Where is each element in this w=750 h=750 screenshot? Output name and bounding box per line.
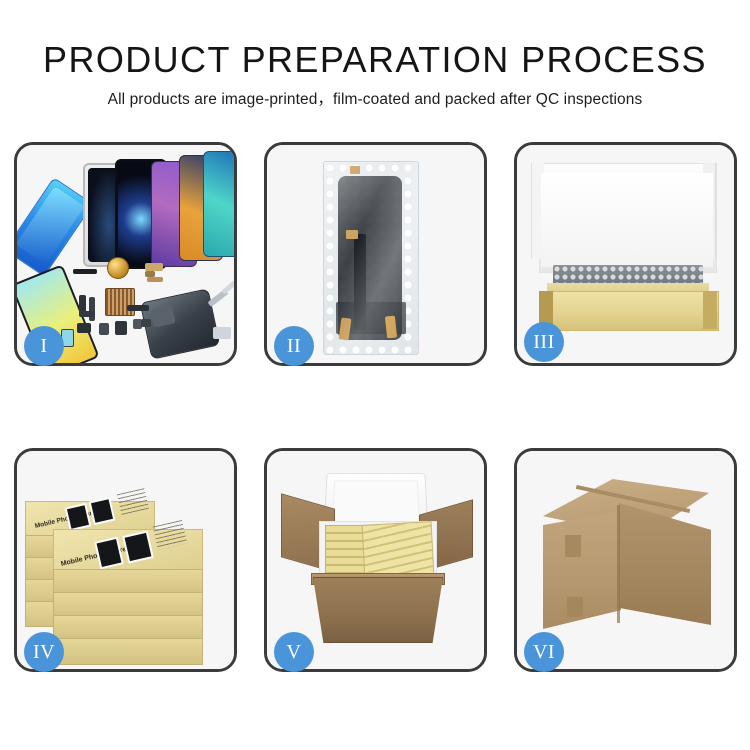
step-badge-2: II [274,326,314,366]
step-badge-4: IV [24,632,64,672]
box-side-face [53,638,203,665]
step-badge-6: VI [524,632,564,672]
box-side-face [53,592,203,617]
box-side-face [53,615,203,640]
part-icon [145,263,163,271]
process-step-grid: I II [14,142,737,672]
carton-body [313,577,443,643]
page-subtitle: All products are image-printed，film-coat… [0,90,750,110]
step-badge-5: V [274,632,314,672]
step-panel-1: I [14,142,237,366]
part-icon [99,323,109,335]
step-panel-6: VI [514,448,737,672]
part-icon [147,277,163,282]
box-side-face [53,569,203,594]
carton-tape-icon [565,535,581,557]
part-icon [77,323,91,333]
step-badge-1: I [24,326,64,366]
part-icon [127,305,149,311]
step-panel-4: Mobile Phone Spare Parts Mobile Phon [14,448,237,672]
stacked-boxes: Mobile Phone Spare Parts Mobile Phon [25,473,231,657]
header: PRODUCT PREPARATION PROCESS All products… [0,38,750,110]
box-front-layers [53,569,201,663]
carton-corner-edge [617,505,620,623]
logic-board-icon [105,288,135,316]
kraft-box-front [539,291,719,331]
teal-phone-icon [203,151,234,257]
white-foam-liner [541,173,713,267]
part-icon [89,297,95,321]
kraft-boxes-inside [362,521,435,579]
carton-right-face [619,503,711,625]
tape-tab-icon [346,230,358,239]
step-panel-3: III [514,142,737,366]
step-panel-2: II [264,142,487,366]
page-title: PRODUCT PREPARATION PROCESS [0,38,750,82]
phone-back-housing-icon [140,288,221,359]
bubble-wrap-bag [323,161,419,355]
speaker-coil-icon [107,257,129,279]
flex-cable-icon [354,234,366,330]
part-icon [141,319,151,327]
tape-tab-icon [350,166,360,174]
step-panel-5: V [264,448,487,672]
screwdriver-tip-icon [213,327,231,339]
part-icon [115,321,127,335]
tape-tab-icon [385,316,397,339]
carton-tape-icon [567,597,583,617]
box-right-end [703,291,717,329]
step-badge-3: III [524,322,564,362]
part-icon [145,271,155,277]
product-preparation-infographic: PRODUCT PREPARATION PROCESS All products… [0,0,750,750]
part-icon [73,269,97,274]
part-icon [79,311,95,317]
